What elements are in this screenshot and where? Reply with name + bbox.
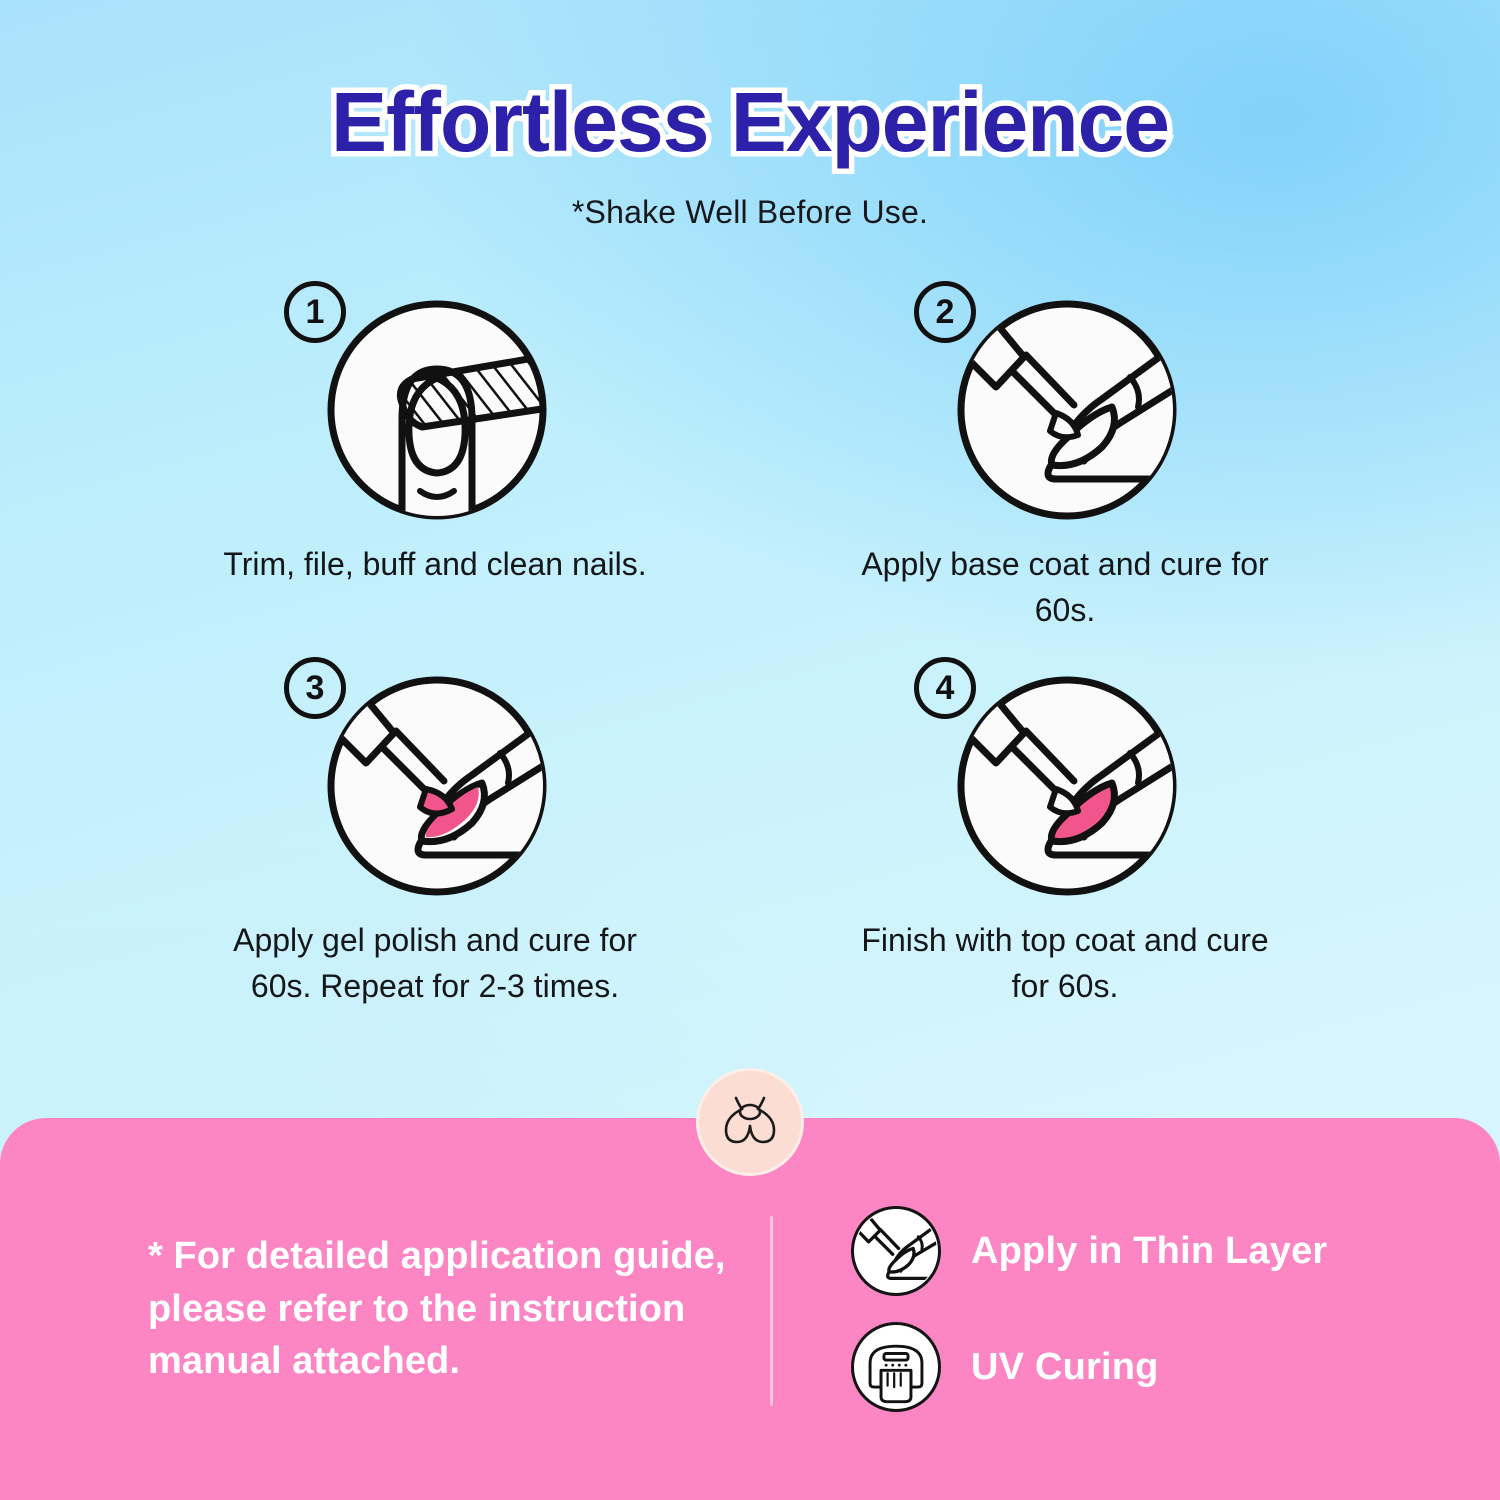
gel-polish-brush-icon [322, 671, 552, 901]
step-card-4: 4 Finish with top coat and cure [750, 651, 1380, 1009]
thin-layer-brush-icon [851, 1206, 941, 1296]
feature-label-uv-curing: UV Curing [971, 1346, 1159, 1389]
step-number-badge-4: 4 [914, 657, 976, 719]
step-caption-4: Finish with top coat and cure for 60s. [850, 918, 1280, 1009]
feature-thin-layer: Apply in Thin Layer [851, 1206, 1500, 1296]
panel-left: * For detailed application guide, please… [0, 1230, 770, 1387]
step-card-2: 2 [750, 275, 1380, 633]
feature-uv-curing: UV Curing [851, 1322, 1500, 1412]
step-number-badge-2: 2 [914, 281, 976, 343]
step-caption-1: Trim, file, buff and clean nails. [220, 542, 650, 587]
step-number-badge-1: 1 [284, 281, 346, 343]
brand-logo-badge [696, 1068, 804, 1176]
step-2-artwork: 2 [910, 275, 1220, 530]
uv-lamp-icon [851, 1322, 941, 1412]
step-card-3: 3 [120, 651, 750, 1009]
base-coat-brush-icon [952, 295, 1182, 525]
step-caption-3: Apply gel polish and cure for 60s. Repea… [220, 918, 650, 1009]
step-card-1: 1 [120, 275, 750, 633]
step-caption-2: Apply base coat and cure for 60s. [850, 542, 1280, 633]
manual-note: * For detailed application guide, please… [148, 1230, 750, 1387]
nail-file-finger-icon [322, 295, 552, 525]
bee-logo-icon [718, 1092, 782, 1152]
step-number-badge-3: 3 [284, 657, 346, 719]
top-coat-brush-icon [952, 671, 1182, 901]
steps-grid: 1 [0, 275, 1500, 1009]
feature-label-thin-layer: Apply in Thin Layer [971, 1230, 1327, 1273]
step-4-artwork: 4 [910, 651, 1220, 906]
panel-right: Apply in Thin Layer [773, 1206, 1500, 1412]
header: Effortless Experience *Shake Well Before… [0, 0, 1500, 231]
step-1-artwork: 1 [280, 275, 590, 530]
step-3-artwork: 3 [280, 651, 590, 906]
page-subtitle: *Shake Well Before Use. [0, 194, 1500, 231]
page-title: Effortless Experience [0, 78, 1500, 166]
